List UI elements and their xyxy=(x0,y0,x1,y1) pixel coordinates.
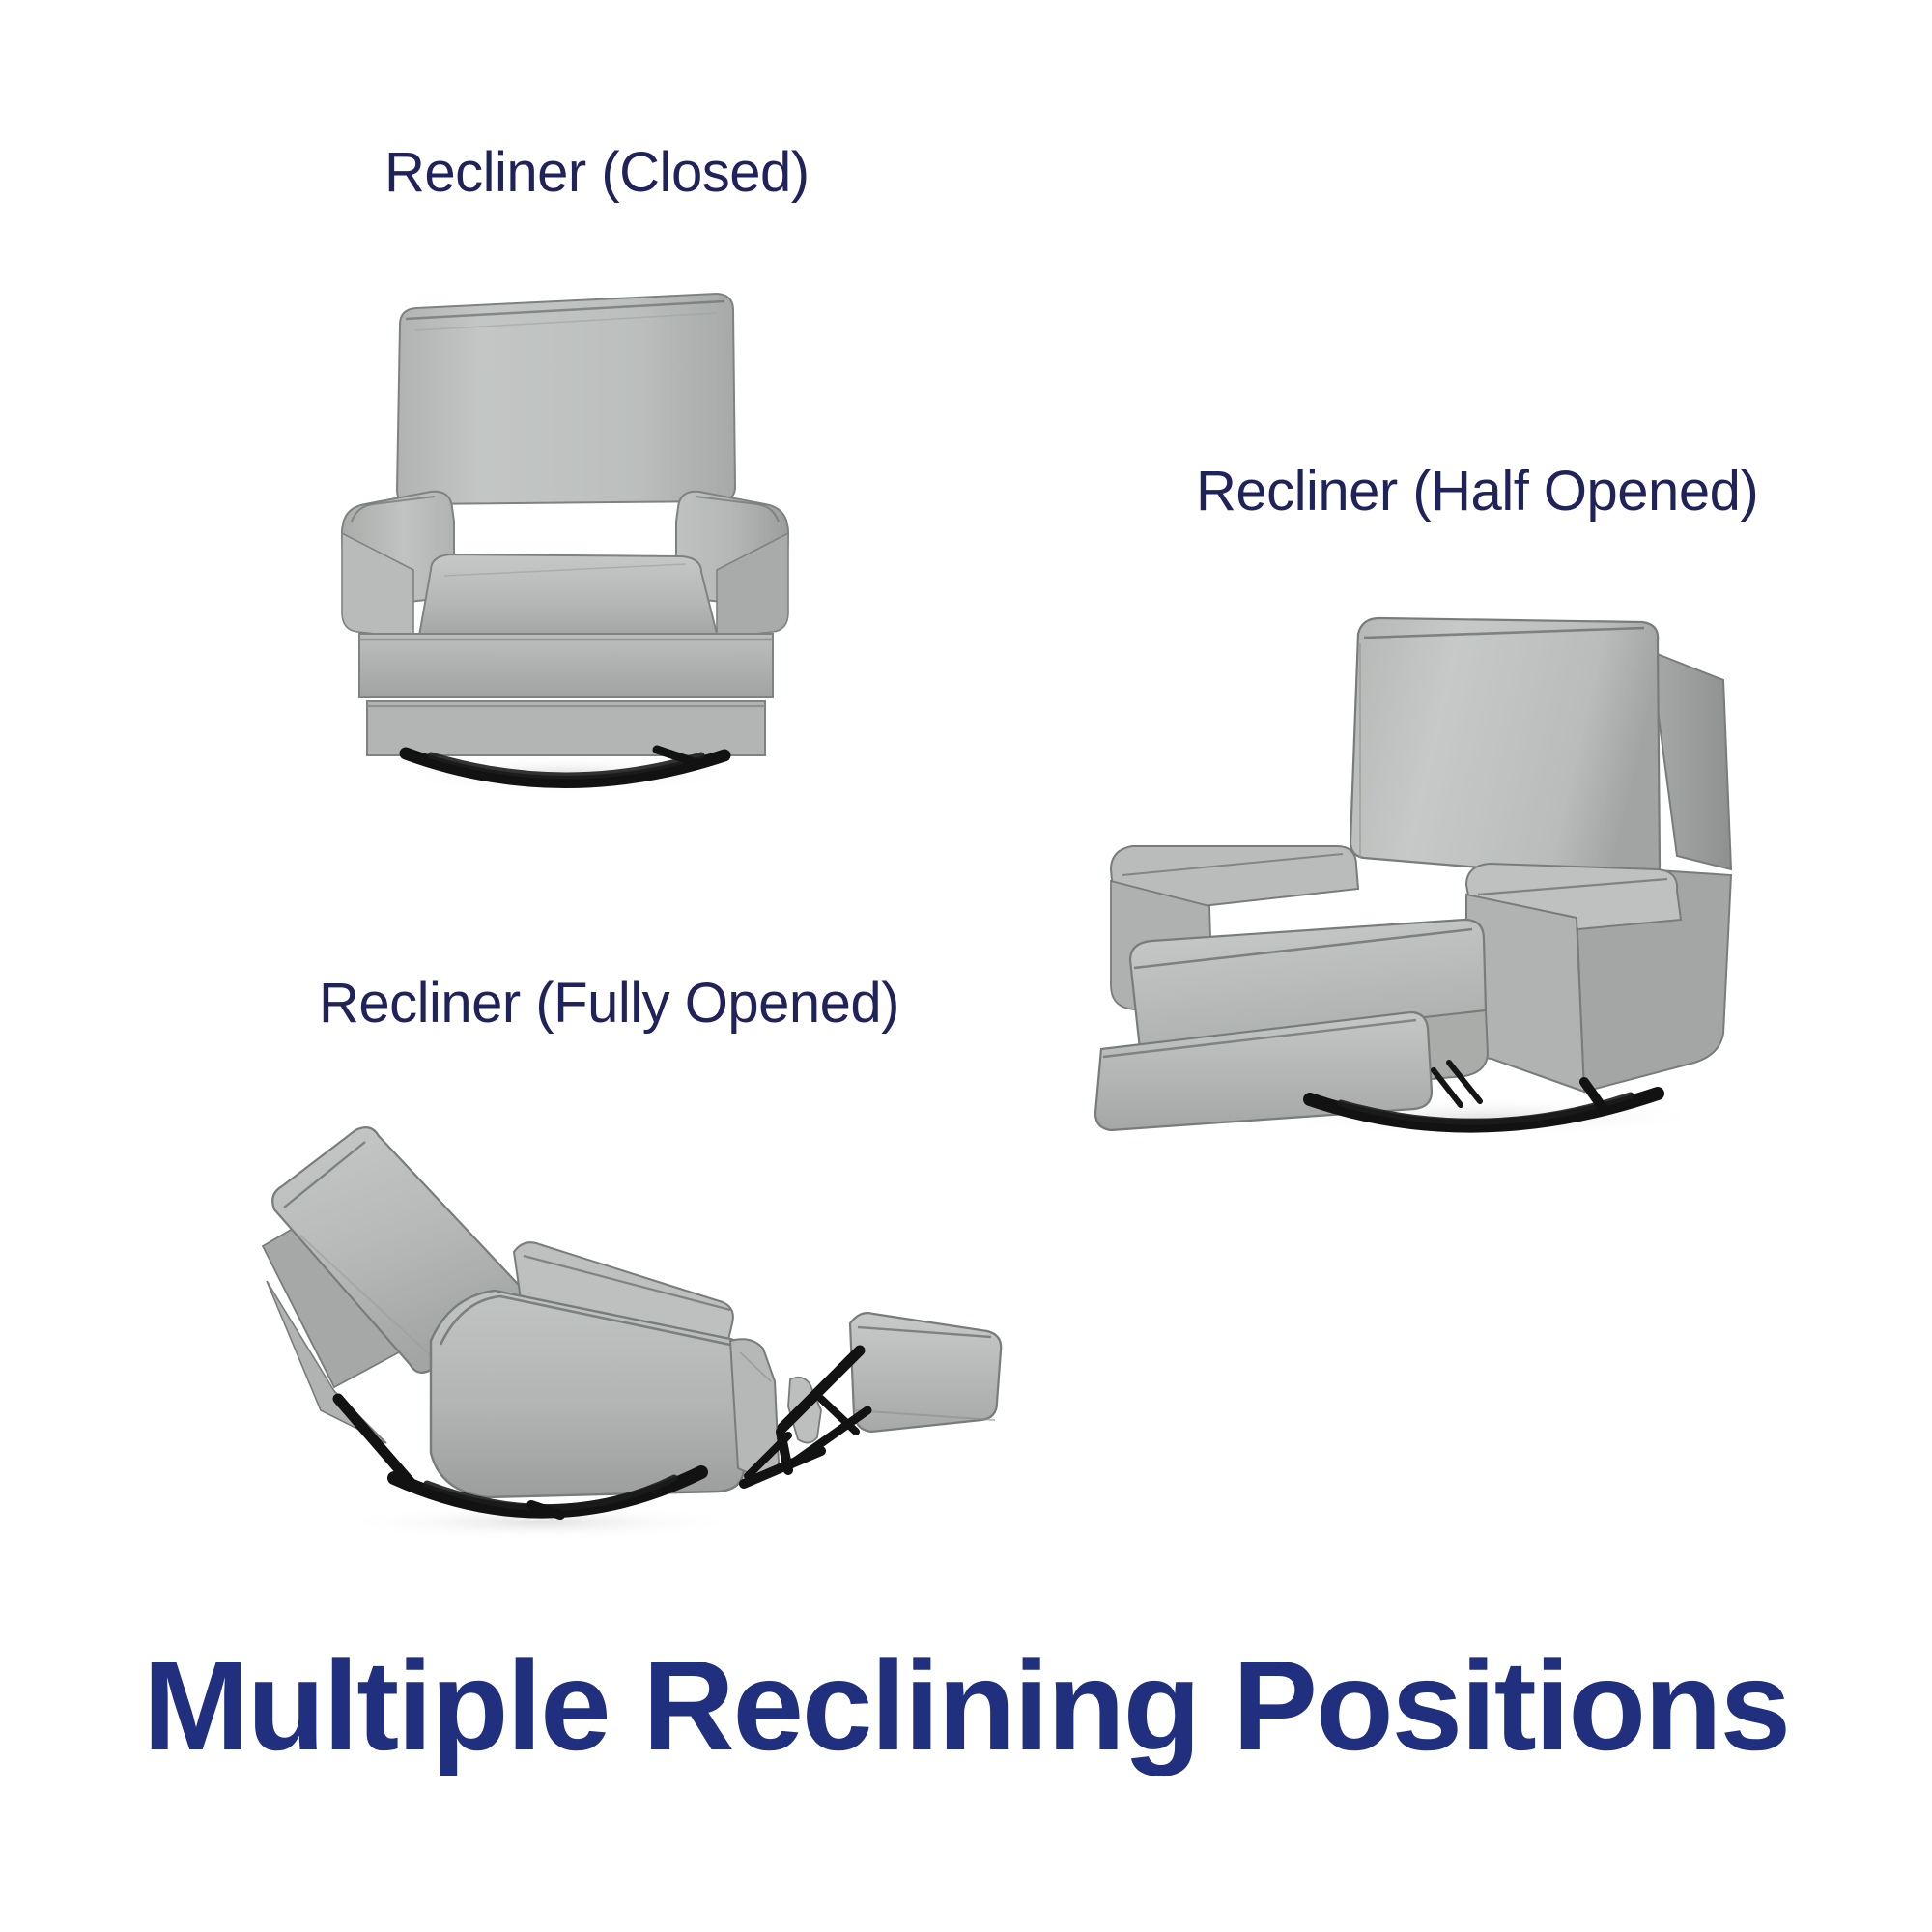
product-image-recliner-closed xyxy=(338,280,792,802)
back-cushion xyxy=(397,294,735,504)
caption-recliner-half-opened: Recliner (Half Opened) xyxy=(1196,464,1758,520)
product-image-recliner-half-opened xyxy=(1101,580,1806,1140)
caption-recliner-closed: Recliner (Closed) xyxy=(384,145,810,201)
skirt-base xyxy=(367,701,765,755)
back-right-side-panel xyxy=(1650,651,1731,869)
extended-footrest xyxy=(850,1313,1001,1432)
infographic-canvas: Recliner (Closed) xyxy=(0,0,1932,1932)
seat-cushion xyxy=(419,554,717,636)
headline-multiple-reclining-positions: Multiple Reclining Positions xyxy=(0,1642,1932,1770)
back-cushion xyxy=(1350,618,1660,881)
seat-front-band xyxy=(359,634,773,697)
product-image-recliner-fully-opened xyxy=(241,1092,1014,1546)
caption-recliner-fully-opened: Recliner (Fully Opened) xyxy=(319,976,899,1032)
back-recline-strut xyxy=(338,1399,412,1484)
